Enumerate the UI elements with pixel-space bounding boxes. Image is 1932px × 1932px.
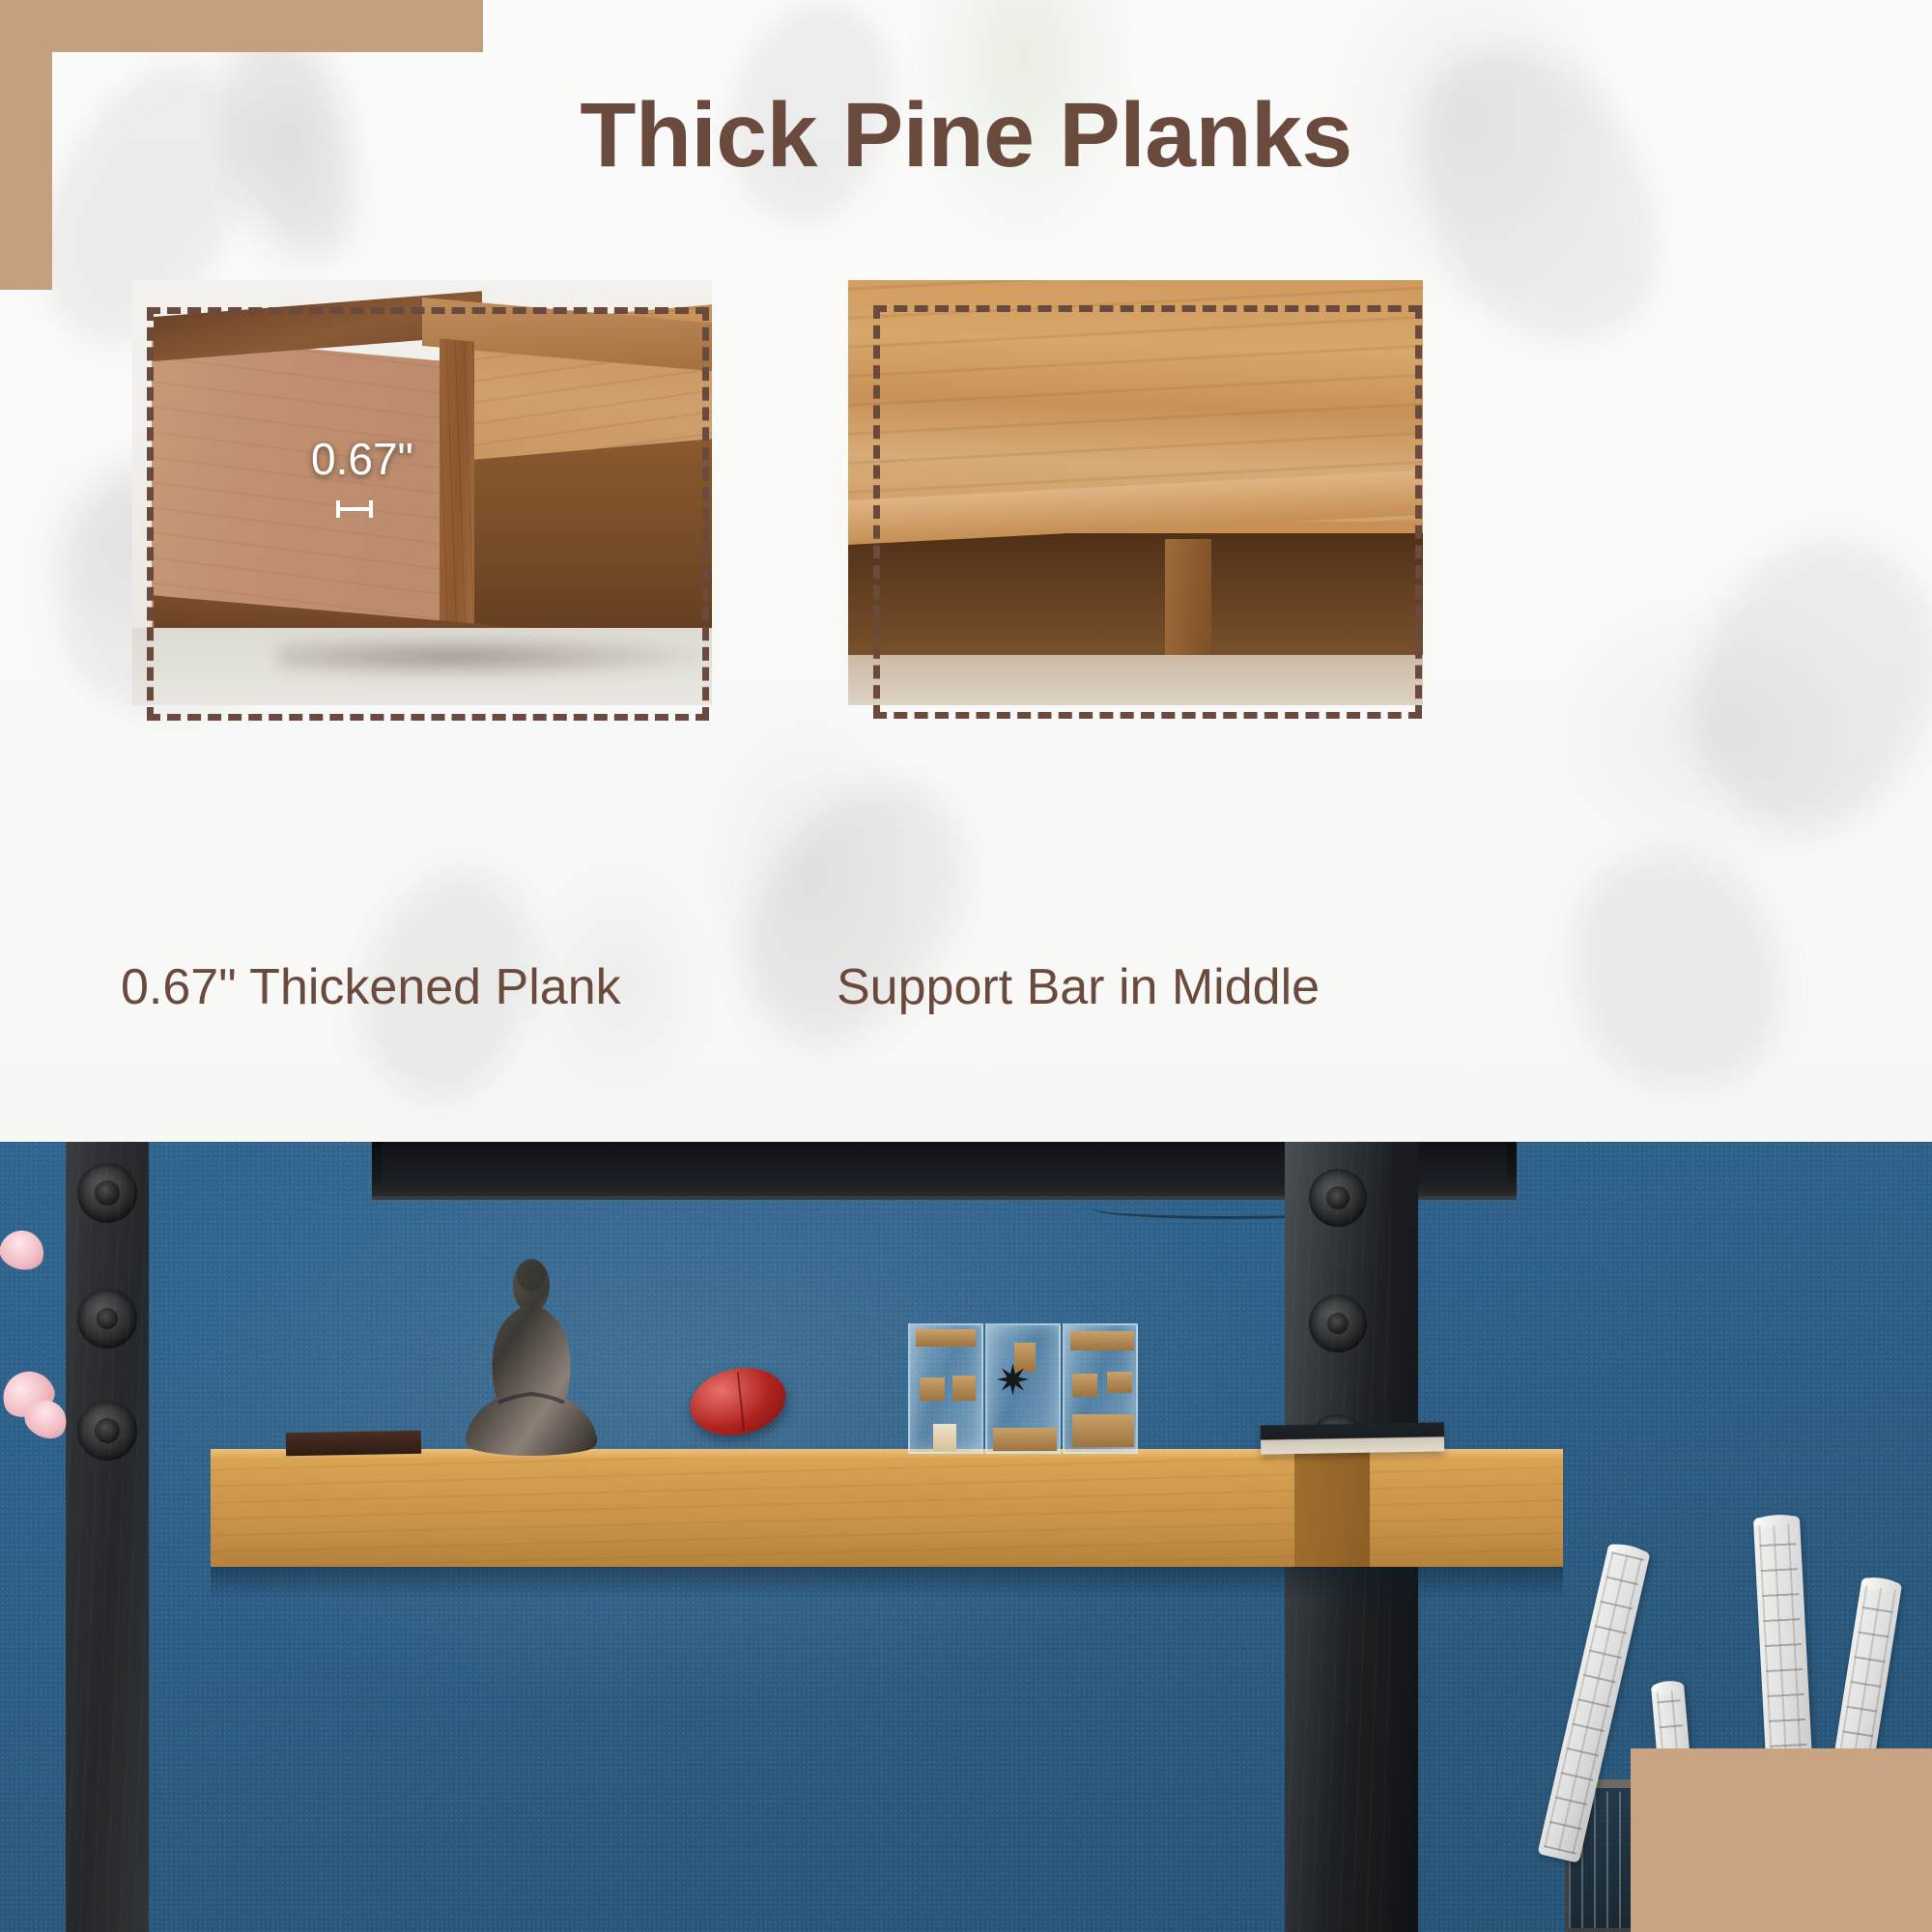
buddha-statue <box>464 1258 599 1456</box>
corner-accent-bottom-right <box>1631 1748 1932 1932</box>
feature-photo-thickened-plank <box>132 280 712 705</box>
speaker-driver <box>77 1289 137 1349</box>
feature-caption-support-bar: Support Bar in Middle <box>837 958 1320 1016</box>
plank-closeup-image <box>132 280 712 705</box>
feature-caption-thickened-plank: 0.67" Thickened Plank <box>121 958 621 1016</box>
star-ornament-icon: ✷ <box>995 1360 1031 1403</box>
speaker-driver <box>77 1401 137 1461</box>
feature-photo-support-bar <box>848 280 1423 705</box>
leaf-shadow <box>705 746 1005 1080</box>
corner-accent-top <box>0 0 483 52</box>
leaf-shadow <box>1662 512 1932 859</box>
support-bar-closeup-image <box>848 280 1423 705</box>
measurement-label: 0.67" <box>311 433 413 485</box>
glass-cube-sculpture <box>1063 1323 1138 1454</box>
glass-cube-sculpture <box>908 1323 983 1454</box>
feature-panel: Thick Pine Planks 0.67" <box>0 0 1932 1142</box>
product-infographic: Thick Pine Planks 0.67" <box>0 0 1932 1932</box>
decor-book <box>1261 1422 1444 1454</box>
decor-book-small <box>286 1431 421 1456</box>
page-title: Thick Pine Planks <box>0 90 1932 182</box>
speaker-driver <box>1309 1169 1367 1227</box>
leaf-shadow <box>1537 821 1815 1121</box>
shelf-end-cap <box>1294 1451 1370 1567</box>
measurement-arrow-icon <box>335 497 374 522</box>
shelf-drop-shadow <box>211 1567 1563 1600</box>
speaker-driver <box>77 1163 137 1223</box>
speaker-tower-left <box>66 1142 149 1932</box>
speaker-driver <box>1309 1294 1367 1352</box>
